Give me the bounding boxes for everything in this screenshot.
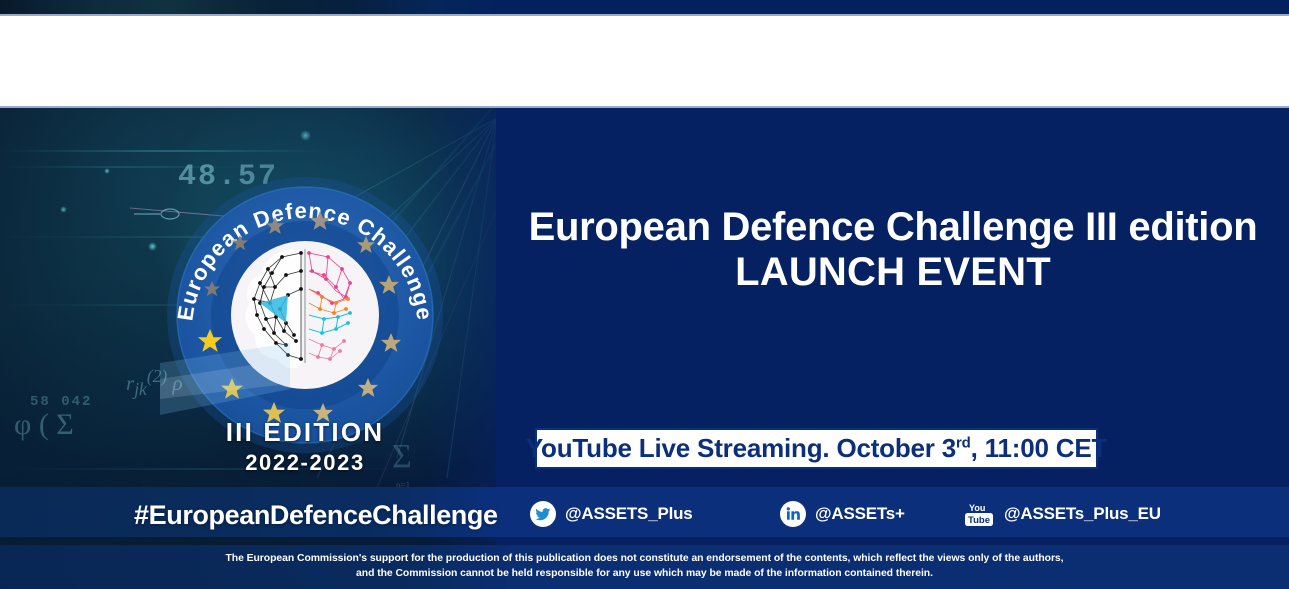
promo-banner: ASSETs+ Alliance for Strategic Skills Ad… bbox=[0, 0, 1289, 589]
svg-text:Tube: Tube bbox=[968, 515, 990, 526]
badge-caption: III EDITION 2022-2023 bbox=[150, 418, 460, 476]
svg-text:You: You bbox=[969, 503, 985, 513]
logo-band-divider bbox=[0, 106, 1289, 108]
readout-number-2: 58 042 bbox=[30, 394, 92, 410]
stream-info-text: YouTube Live Streaming. October 3rd, 11:… bbox=[526, 433, 1107, 464]
formula-2: φ ( Σ bbox=[14, 408, 74, 442]
top-accent-strip bbox=[0, 0, 1289, 14]
twitter-icon bbox=[530, 501, 556, 527]
glow-dot-5 bbox=[104, 168, 110, 174]
stream-info-box: YouTube Live Streaming. October 3rd, 11:… bbox=[535, 428, 1098, 469]
top-strip-tech-segment bbox=[0, 0, 496, 14]
stream-suffix: , 11:00 CET bbox=[971, 433, 1108, 463]
event-title-line2: LAUNCH EVENT bbox=[504, 250, 1282, 295]
campaign-hashtag: #EuropeanDefenceChallenge bbox=[134, 500, 498, 531]
event-title: European Defence Challenge III edition L… bbox=[504, 205, 1282, 295]
glow-dot-1 bbox=[60, 206, 67, 213]
logo-band bbox=[0, 16, 1289, 108]
glow-dot-2 bbox=[148, 242, 157, 251]
social-handle-linkedin[interactable]: @ASSETs+ bbox=[780, 501, 963, 527]
youtube-icon: You Tube bbox=[963, 500, 995, 528]
badge-years: 2022-2023 bbox=[150, 450, 460, 476]
disclaimer-line1: The European Commission's support for th… bbox=[225, 552, 1063, 567]
social-handle-twitter[interactable]: @ASSETS_Plus bbox=[530, 501, 780, 527]
eu-disclaimer: The European Commission's support for th… bbox=[0, 545, 1289, 589]
scanline-1 bbox=[0, 150, 330, 152]
stream-prefix: YouTube Live Streaming. October 3 bbox=[526, 433, 956, 463]
badge-edition: III EDITION bbox=[150, 418, 460, 447]
twitter-handle-label: @ASSETS_Plus bbox=[565, 504, 693, 524]
stream-ordinal: rd bbox=[956, 434, 971, 451]
social-handle-youtube[interactable]: You Tube @ASSETs_Plus_EU bbox=[963, 500, 1161, 528]
top-divider-line bbox=[0, 14, 1289, 16]
event-title-line1: European Defence Challenge III edition bbox=[504, 205, 1282, 250]
linkedin-icon bbox=[780, 501, 806, 527]
glow-dot-3 bbox=[300, 130, 311, 141]
linkedin-handle-label: @ASSETs+ bbox=[815, 504, 905, 524]
disclaimer-line2: and the Commission cannot be held respon… bbox=[356, 567, 933, 582]
social-handles: @ASSETS_Plus @ASSETs+ You Tube @ASSETs_P… bbox=[530, 500, 1161, 528]
youtube-handle-label: @ASSETs_Plus_EU bbox=[1004, 504, 1161, 524]
